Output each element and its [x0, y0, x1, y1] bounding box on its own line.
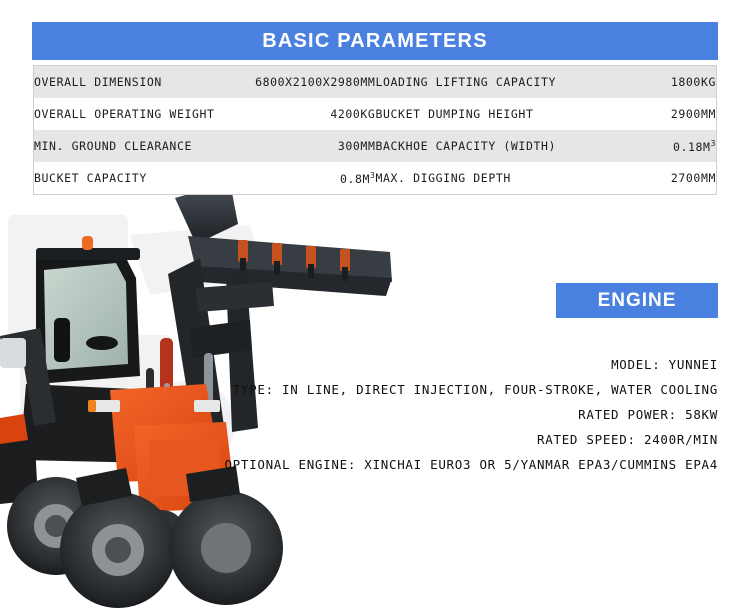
machine-axle — [118, 510, 222, 550]
param-value-text: 0.18M — [673, 139, 711, 153]
table-row: OVERALL OPERATING WEIGHT 4200KG BUCKET D… — [34, 98, 717, 130]
basic-parameters-title: BASIC PARAMETERS — [262, 30, 488, 53]
param-value: 1800KG — [605, 66, 717, 99]
table-row: BUCKET CAPACITY 0.8M3 MAX. DIGGING DEPTH… — [34, 162, 717, 195]
table-row: MIN. GROUND CLEARANCE 300MM BACKHOE CAPA… — [34, 130, 717, 162]
param-value: 4200KG — [246, 98, 376, 130]
param-label: MIN. GROUND CLEARANCE — [34, 130, 246, 162]
param-label: BACKHOE CAPACITY (WIDTH) — [375, 130, 604, 162]
engine-spec-list: MODEL: YUNNEI TYPE: IN LINE, DIRECT INJE… — [18, 352, 718, 477]
param-value: 2900MM — [605, 98, 717, 130]
basic-parameters-table: OVERALL DIMENSION 6800X2100X2980MM LOADI… — [33, 65, 717, 195]
param-label: BUCKET CAPACITY — [34, 162, 246, 195]
param-label: OVERALL OPERATING WEIGHT — [34, 98, 246, 130]
engine-spec-type: TYPE: IN LINE, DIRECT INJECTION, FOUR-ST… — [18, 377, 718, 402]
engine-spec-speed: RATED SPEED: 2400R/MIN — [18, 427, 718, 452]
machine-wheel — [7, 477, 283, 608]
basic-parameters-banner: BASIC PARAMETERS — [32, 22, 718, 60]
engine-spec-power: RATED POWER: 58KW — [18, 402, 718, 427]
param-value-text: 0.8M — [340, 171, 370, 185]
param-value: 2700MM — [605, 162, 717, 195]
loader-bucket-icon — [175, 182, 392, 296]
param-value: 0.8M3 — [246, 162, 376, 195]
engine-spec-optional: OPTIONAL ENGINE: XINCHAI EURO3 OR 5/YANM… — [18, 452, 718, 477]
engine-title: ENGINE — [598, 290, 677, 312]
param-value: 0.18M3 — [605, 130, 717, 162]
param-value-superscript: 3 — [711, 139, 716, 148]
param-value: 300MM — [246, 130, 376, 162]
param-value: 6800X2100X2980MM — [246, 66, 376, 99]
table-row: OVERALL DIMENSION 6800X2100X2980MM LOADI… — [34, 66, 717, 99]
engine-spec-model: MODEL: YUNNEI — [18, 352, 718, 377]
param-label: LOADING LIFTING CAPACITY — [375, 66, 604, 99]
param-label: MAX. DIGGING DEPTH — [375, 162, 604, 195]
engine-banner: ENGINE — [556, 283, 718, 318]
param-label: OVERALL DIMENSION — [34, 66, 246, 99]
param-label: BUCKET DUMPING HEIGHT — [375, 98, 604, 130]
